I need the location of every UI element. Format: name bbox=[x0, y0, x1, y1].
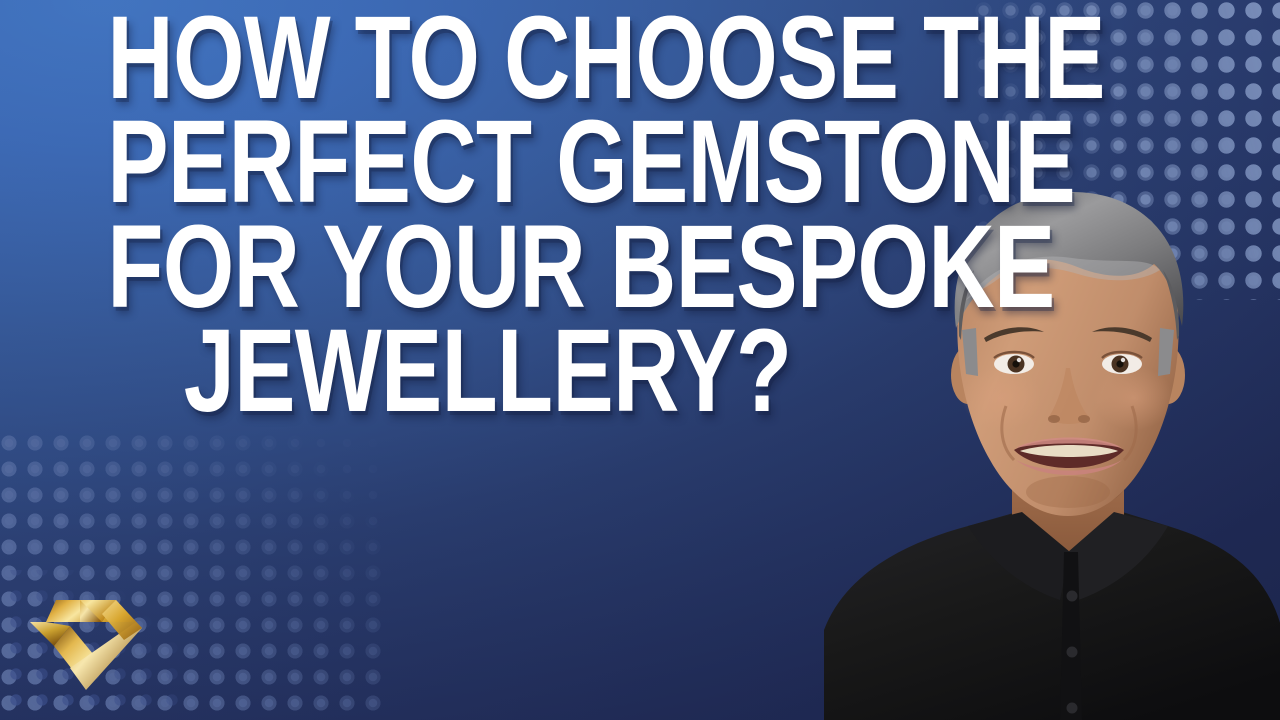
headline-line-4: JEWELLERY? bbox=[107, 319, 868, 423]
headline-line-2: PERFECT GEMSTONE bbox=[107, 110, 868, 214]
gemstone-diamond-logo bbox=[24, 586, 148, 692]
headline-block: HOW TO CHOOSE THE PERFECT GEMSTONE FOR Y… bbox=[0, 6, 975, 424]
headline-line-1: HOW TO CHOOSE THE bbox=[107, 6, 868, 110]
thumbnail-canvas: HOW TO CHOOSE THE PERFECT GEMSTONE FOR Y… bbox=[0, 0, 1280, 720]
headline-line-3: FOR YOUR BESPOKE bbox=[107, 215, 868, 319]
